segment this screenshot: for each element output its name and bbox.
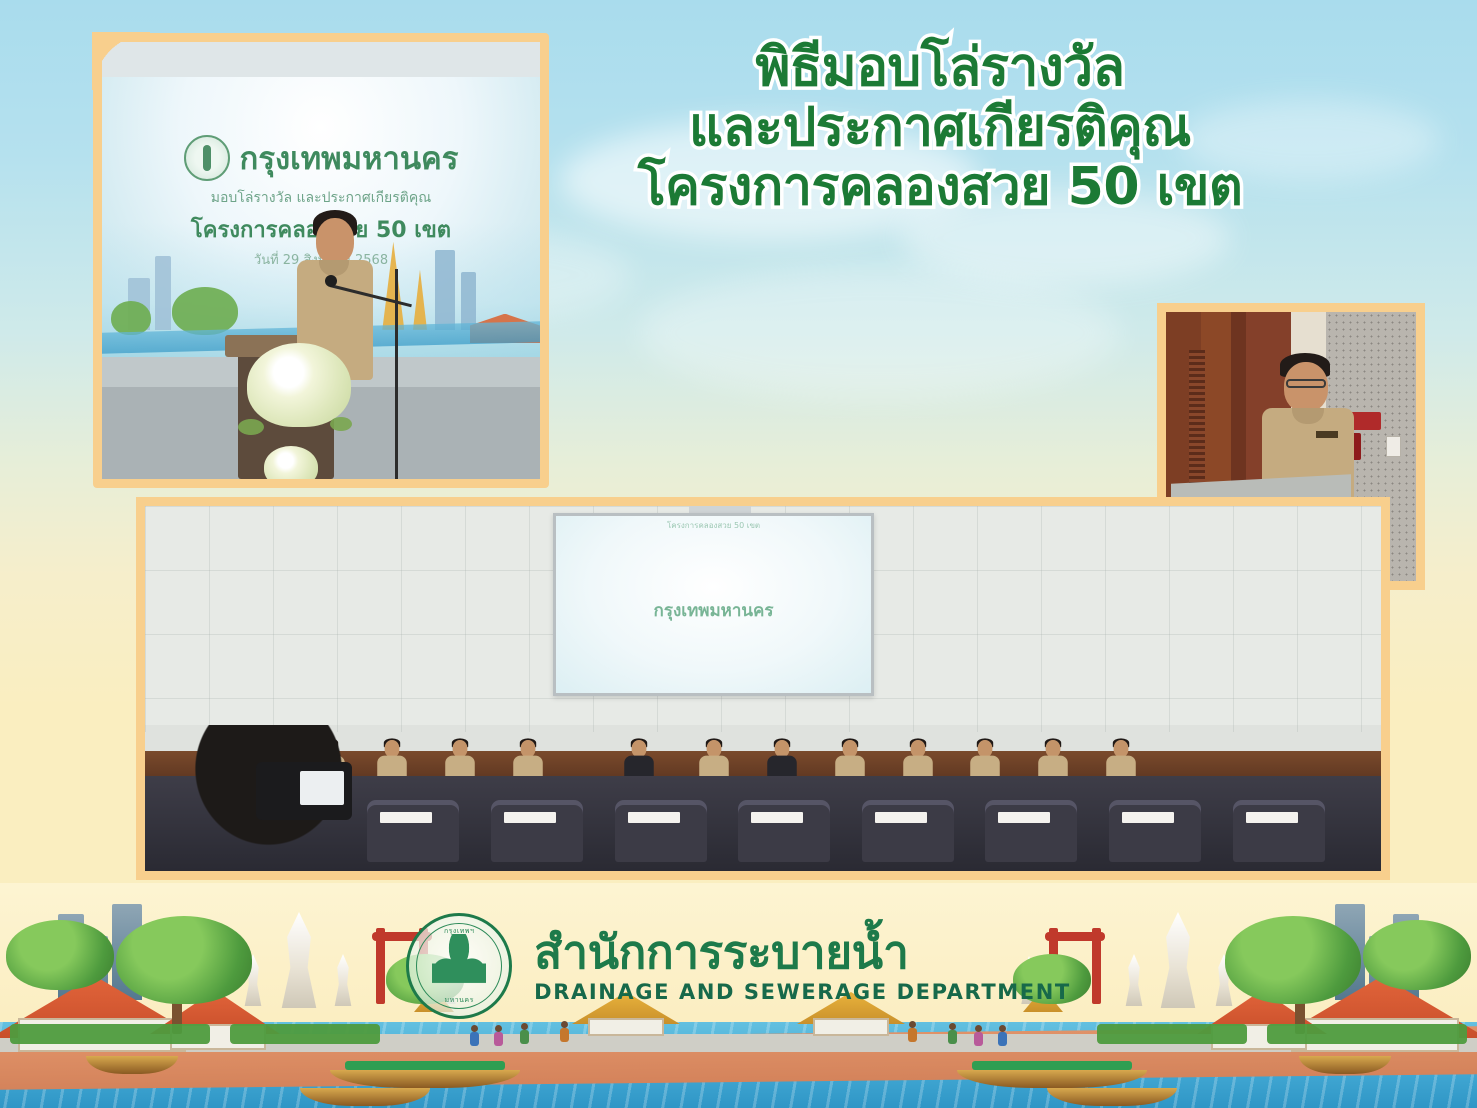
poster-title: พิธีมอบโล่รางวัล และประกาศเกียรติคุณ โคร… — [560, 38, 1320, 217]
wall-switch — [1386, 436, 1401, 458]
department-name-thai: สำนักการระบายน้ำ — [534, 928, 1071, 976]
title-line-3: โครงการคลองสวย 50 เขต — [560, 158, 1320, 217]
erawan-elephant-icon — [432, 934, 486, 998]
department-name-english: DRAINAGE AND SEWERAGE DEPARTMENT — [534, 980, 1071, 1004]
bma-emblem-icon — [184, 135, 230, 181]
title-line-2: และประกาศเกียรติคุณ — [560, 98, 1320, 158]
photo-podium-wide-frame: กรุงเทพมหานคร มอบโล่รางวัล และประกาศเกีย… — [93, 33, 549, 488]
pedestrian — [974, 1025, 983, 1046]
pedestrian — [494, 1025, 503, 1046]
bma-seal-icon: กรุงเทพฯ มหานคร — [406, 913, 512, 1019]
poster-canvas: พิธีมอบโล่รางวัล และประกาศเกียรติคุณ โคร… — [0, 0, 1477, 1108]
eyeglasses-icon — [1286, 379, 1326, 388]
title-line-1: พิธีมอบโล่รางวัล — [560, 38, 1320, 98]
footer-illustration: กรุงเทพฯ มหานคร สำนักการระบายน้ำ DRAINAG… — [0, 883, 1477, 1108]
photo-group-frame: กรุงเทพมหานคร โครงการคลองสวย 50 เขต — [136, 497, 1390, 880]
name-badge — [1316, 431, 1338, 438]
photo-podium-wide: กรุงเทพมหานคร มอบโล่รางวัล และประกาศเกีย… — [102, 42, 540, 479]
seal-text-bottom: มหานคร — [409, 995, 509, 1006]
screen-project-name: โครงการคลองสวย 50 เขต — [556, 519, 871, 532]
pedestrian — [520, 1023, 529, 1044]
slide-org-name: กรุงเทพมหานคร — [240, 133, 459, 183]
pedestrian — [560, 1021, 569, 1042]
footer-brand-block: กรุงเทพฯ มหานคร สำนักการระบายน้ำ DRAINAG… — [0, 913, 1477, 1019]
pedestrian — [908, 1021, 917, 1042]
pedestrian — [948, 1023, 957, 1044]
photo-group-ceremony: กรุงเทพมหานคร โครงการคลองสวย 50 เขต — [145, 506, 1381, 871]
screen-org-name: กรุงเทพมหานคร — [556, 597, 871, 624]
projection-screen: กรุงเทพมหานคร โครงการคลองสวย 50 เขต — [553, 513, 874, 696]
flower-bouquet — [247, 343, 351, 427]
slide-subtitle: มอบโล่รางวัล และประกาศเกียรติคุณ — [102, 187, 540, 209]
pedestrian — [998, 1025, 1007, 1046]
pedestrian — [470, 1025, 479, 1046]
camera-icon — [256, 762, 352, 820]
cloud-decoration — [640, 268, 1120, 398]
frame-corner-notch — [92, 32, 150, 90]
